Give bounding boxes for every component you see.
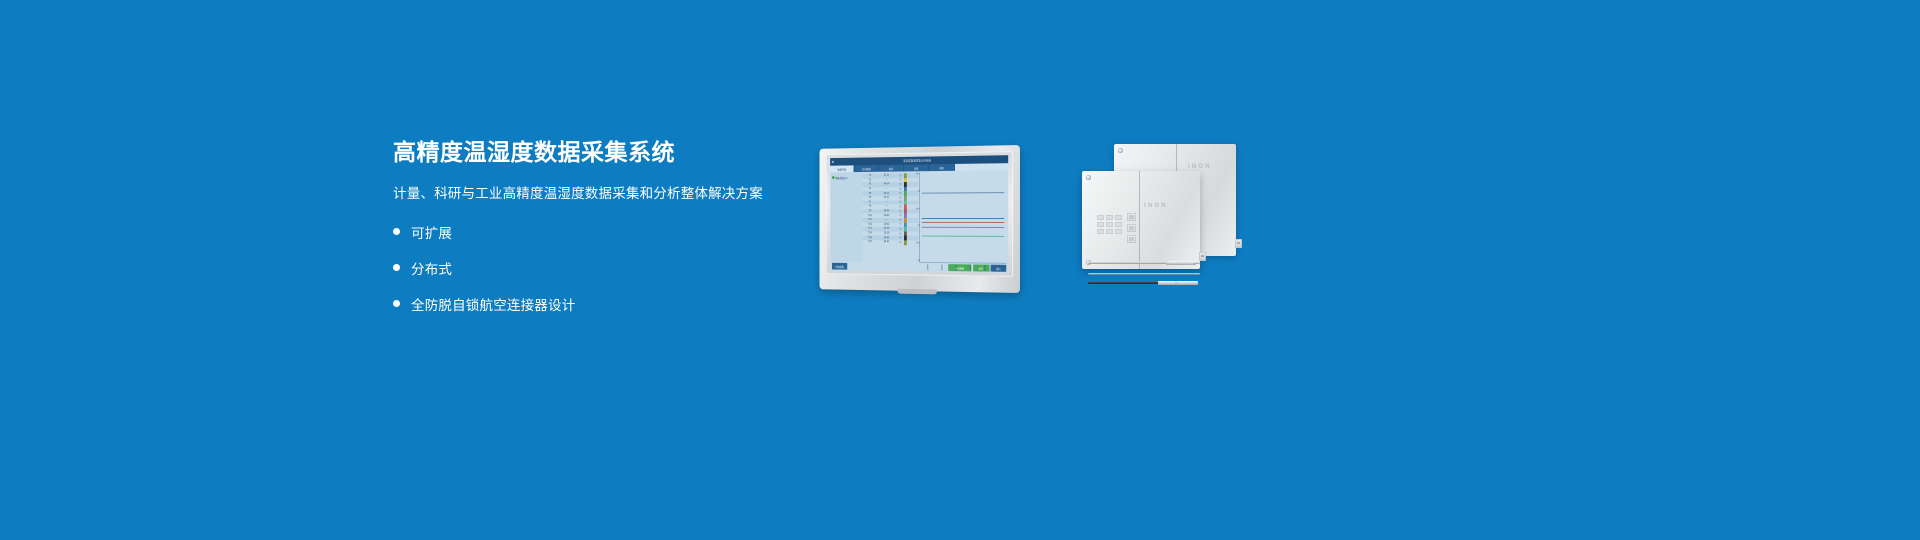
cell-value: 26.94	[876, 241, 896, 243]
cell-unit: ℃	[897, 196, 904, 199]
panel-pc-product-image: 温湿度数据采集分析系统 数据采集 历史数据 报表 设置 帮助 数据采集仪-1	[819, 145, 1020, 293]
cell-channel: T2	[864, 179, 877, 181]
device-tree-node[interactable]: 数据采集仪-1	[831, 175, 862, 180]
cell-unit: ℃	[897, 232, 904, 235]
connector-port	[1106, 222, 1113, 227]
cell-channel: T14	[864, 232, 877, 234]
bullet-icon	[393, 264, 400, 271]
feature-label: 可扩展	[411, 222, 452, 242]
connector-port	[1097, 222, 1104, 227]
probe-cable	[1088, 273, 1200, 275]
chart-y-axis: 29.02826.02625.025	[912, 173, 920, 262]
tablet-stand-foot	[897, 289, 937, 295]
cell-unit: ℃	[897, 188, 904, 191]
device-tree-sidebar: 数据采集仪-1	[830, 172, 862, 262]
probe-tip	[1194, 262, 1200, 264]
start-acquisition-button[interactable]: 开始采集	[832, 263, 847, 270]
chart-series-line	[922, 192, 1004, 193]
x-tick-label: 14:40:00	[954, 264, 956, 270]
cell-channel: T1	[864, 175, 877, 177]
chart-x-axis: 14:20:0014:30:0014:40:0014:50:0015:00:00…	[920, 264, 1006, 271]
cell-unit: ℃	[897, 179, 904, 182]
y-tick-label: 26	[912, 225, 919, 227]
y-tick-label: 26.0	[912, 208, 919, 210]
feature-label: 全防脱自锁航空连接器设计	[411, 294, 575, 314]
feature-item-1: 可扩展	[393, 222, 813, 242]
feature-item-2: 分布式	[393, 258, 813, 278]
cell-channel: T6	[864, 197, 877, 199]
cell-value: 26.19	[876, 233, 896, 235]
cell-unit: ℃	[897, 214, 904, 217]
tablet-bezel: 温湿度数据采集分析系统 数据采集 历史数据 报表 设置 帮助 数据采集仪-1	[826, 151, 1013, 277]
probe-cable-dark	[1088, 282, 1160, 284]
cell-unit: ℃	[897, 219, 904, 222]
channel-data-table: T121.11℃T2---℃T326.19℃T4---℃T526.12℃T626…	[863, 171, 918, 263]
cell-unit: ℃	[897, 223, 904, 226]
cell-unit: ℃	[897, 205, 904, 208]
feature-label: 分布式	[411, 258, 452, 278]
probe-connector	[1158, 281, 1176, 285]
probe-ring	[1176, 281, 1178, 285]
module-mount-tab	[1235, 239, 1242, 248]
cell-channel: T15	[864, 237, 877, 239]
cell-value: 26.19	[876, 184, 896, 186]
connector-port	[1115, 222, 1122, 227]
cell-value: 26.90	[876, 224, 896, 226]
cell-unit: ℃	[897, 174, 904, 177]
hero-banner: 高精度温湿度数据采集系统 计量、科研与工业高精度温湿度数据采集和分析整体解决方案…	[0, 0, 1920, 540]
cell-channel: T11	[864, 219, 877, 221]
cell-value: ---	[876, 179, 896, 181]
cell-value: 26.88	[876, 215, 896, 217]
x-tick-label: 15:10:00	[998, 265, 1000, 271]
cell-value: ---	[876, 206, 896, 208]
connector-port	[1115, 215, 1122, 220]
cell-unit: ℃	[897, 192, 904, 195]
app-title: 温湿度数据采集分析系统	[903, 158, 931, 162]
bullet-icon	[393, 228, 400, 235]
cell-value: 26.28	[876, 228, 896, 230]
page-subtitle: 计量、科研与工业高精度温湿度数据采集和分析整体解决方案	[393, 185, 813, 204]
y-tick-label: 29.0	[912, 173, 919, 175]
connector-port-grid	[1097, 215, 1122, 234]
cell-unit: ℃	[897, 201, 904, 204]
cell-channel: T4	[864, 188, 877, 190]
cell-channel: T16	[864, 241, 877, 243]
module-mount-tab	[1199, 252, 1206, 261]
chart-series-line	[922, 222, 1004, 223]
x-tick-label: 14:50:00	[969, 264, 971, 270]
screw-icon	[1086, 175, 1091, 180]
cell-channel: T5	[864, 193, 877, 195]
temperature-probe-1	[1088, 261, 1200, 265]
probe-handle	[1166, 261, 1196, 265]
tablet-screen: 温湿度数据采集分析系统 数据采集 历史数据 报表 设置 帮助 数据采集仪-1	[830, 155, 1008, 273]
x-tick-label: 14:30:00	[940, 264, 942, 270]
cell-unit: ℃	[897, 228, 904, 231]
cell-channel: T3	[864, 184, 877, 186]
bullet-icon	[393, 300, 400, 307]
app-logo-icon	[832, 161, 834, 163]
cell-channel: T9	[864, 210, 877, 212]
temperature-probe-3	[1088, 281, 1200, 285]
screw-icon	[1118, 148, 1123, 153]
cell-unit: ℃	[897, 237, 904, 240]
cell-unit: ℃	[897, 183, 904, 186]
cell-value: ---	[876, 188, 896, 190]
trend-chart: 29.02826.02625.025 14:20:0014:30:0014:40…	[919, 172, 1006, 264]
cell-unit: ℃	[897, 210, 904, 213]
y-tick-label: 28	[912, 191, 919, 193]
device-status-icon	[832, 176, 835, 179]
cell-value: ---	[876, 201, 896, 203]
temperature-probe-2	[1088, 272, 1200, 276]
y-tick-label: 25	[912, 260, 919, 262]
chart-series-line	[922, 218, 1004, 219]
table-row[interactable]: T1626.94℃	[863, 240, 918, 245]
chart-series-line	[922, 235, 1004, 236]
probe-handle	[1176, 281, 1198, 285]
cell-channel: T13	[864, 228, 877, 230]
series-color-swatch	[904, 240, 907, 244]
x-tick-label: 15:00:00	[983, 264, 985, 270]
x-tick-label: 14:20:00	[926, 264, 928, 270]
device-label: 数据采集仪-1	[836, 176, 848, 180]
probe-rod	[1088, 262, 1168, 264]
page-title: 高精度温湿度数据采集系统	[393, 138, 813, 167]
aviation-connector-group	[1127, 213, 1136, 243]
connector-port	[1097, 229, 1104, 234]
cell-channel: T10	[864, 215, 877, 217]
hero-text-block: 高精度温湿度数据采集系统 计量、科研与工业高精度温湿度数据采集和分析整体解决方案…	[393, 138, 813, 330]
connector-port	[1106, 229, 1113, 234]
brand-logo: INON	[1144, 203, 1168, 209]
cell-value: ---	[876, 219, 896, 221]
cell-value: 21.11	[876, 175, 896, 177]
app-body: 数据采集仪-1 T121.11℃T2---℃T326.19℃T4---℃T526…	[830, 170, 1008, 264]
feature-item-3: 全防脱自锁航空连接器设计	[393, 294, 813, 314]
cell-channel: T7	[864, 202, 877, 204]
cell-channel: T8	[864, 206, 877, 208]
cell-value: 26.11	[876, 197, 896, 199]
aviation-connector	[1127, 224, 1136, 232]
module-seam	[1139, 171, 1140, 269]
probe-ring	[1166, 261, 1168, 265]
cell-unit: ℃	[897, 241, 904, 244]
aviation-connector	[1127, 235, 1136, 243]
connector-port	[1097, 215, 1104, 220]
connector-port	[1106, 215, 1113, 220]
probe-ring	[1158, 281, 1160, 285]
cell-channel: T12	[864, 224, 877, 226]
chart-series-line	[922, 226, 1004, 227]
cell-value: 26.90	[876, 237, 896, 239]
y-tick-label: 25.0	[912, 243, 919, 245]
sensor-module-front: INON	[1082, 171, 1200, 269]
cell-value: 26.12	[876, 193, 896, 195]
cell-value: 26.98	[876, 210, 896, 212]
brand-logo: INON	[1188, 164, 1212, 170]
connector-port	[1115, 229, 1122, 234]
aviation-connector	[1127, 213, 1136, 221]
